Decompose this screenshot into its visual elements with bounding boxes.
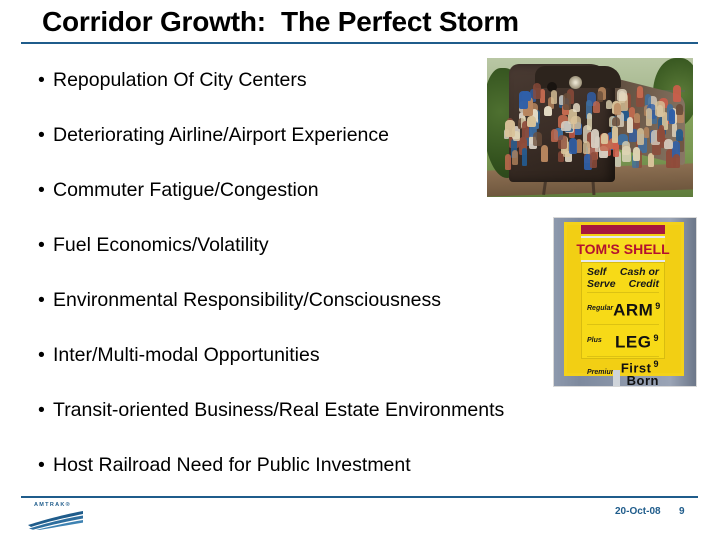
photo-passenger xyxy=(614,103,621,114)
footer-page-number: 9 xyxy=(679,506,685,517)
photo-passenger xyxy=(591,129,599,148)
sign-board-header: Self Serve Cash or Credit xyxy=(587,266,659,292)
photo-passenger xyxy=(533,132,542,146)
photo-passenger xyxy=(541,145,548,162)
photo-passenger xyxy=(533,83,541,99)
photo-passenger xyxy=(522,148,528,166)
photo-passenger xyxy=(558,135,567,149)
photo-passenger xyxy=(563,93,571,110)
photo-passenger xyxy=(576,139,581,153)
bullet-text: Host Railroad Need for Public Investment xyxy=(53,454,411,476)
footer-divider xyxy=(21,496,698,498)
bullet-text: Environmental Responsibility/Consciousne… xyxy=(53,289,441,311)
sign-support-pole xyxy=(613,370,620,386)
bullet-marker-icon: • xyxy=(38,53,45,108)
photo-passenger xyxy=(561,121,571,131)
photo-passenger xyxy=(633,147,640,161)
photo-passenger xyxy=(593,101,601,113)
list-item: • Transit-oriented Business/Real Estate … xyxy=(38,383,638,438)
photo-passenger xyxy=(612,126,618,143)
sign-price-value: LEG9 xyxy=(615,330,659,351)
sign-price-text: ARM xyxy=(613,301,653,320)
sign-price-text: LEG xyxy=(615,333,651,352)
amtrak-wordmark: AMTRAK® xyxy=(34,502,71,508)
photo-passenger xyxy=(659,125,665,138)
crowded-train-photo xyxy=(486,57,694,198)
photo-passenger xyxy=(597,91,603,102)
sign-grade-label: Plus xyxy=(587,337,602,344)
sign-price-value: ARM9 xyxy=(613,298,661,319)
photo-passenger xyxy=(601,133,609,144)
photo-passenger xyxy=(644,127,649,138)
photo-passenger xyxy=(612,117,621,126)
photo-passenger xyxy=(571,116,581,129)
list-item: • Inter/Multi-modal Opportunities xyxy=(38,328,638,383)
page-title: Corridor Growth: The Perfect Storm xyxy=(42,6,682,38)
bullet-marker-icon: • xyxy=(38,438,45,493)
photo-passenger xyxy=(573,103,580,112)
bullet-text: Transit-oriented Business/Real Estate En… xyxy=(53,399,504,421)
bullet-text: Inter/Multi-modal Opportunities xyxy=(53,344,320,366)
photo-passenger xyxy=(627,117,633,134)
sign-price-ninths: 9 xyxy=(655,301,661,311)
sign-price-value: First9 Born xyxy=(621,358,659,387)
sign-price-board: Self Serve Cash or Credit Regular ARM9 xyxy=(581,262,665,359)
photo-passenger xyxy=(646,108,653,126)
gas-station-price-sign-photo: TOM'S SHELL Self Serve Cash or Credit Re… xyxy=(553,217,697,387)
photo-passenger xyxy=(676,104,683,115)
sign-self-serve-line2: Serve xyxy=(587,278,616,290)
bullet-text: Commuter Fatigue/Congestion xyxy=(53,179,319,201)
photo-passenger xyxy=(544,106,552,116)
photo-passenger xyxy=(676,129,684,142)
photo-passenger xyxy=(673,85,681,101)
photo-passenger xyxy=(634,113,640,123)
photo-passenger xyxy=(617,89,627,101)
photo-passenger xyxy=(551,129,558,142)
photo-passenger xyxy=(569,138,577,154)
photo-passenger xyxy=(664,139,673,148)
sign-price-ninths: 9 xyxy=(653,333,659,343)
photo-passenger xyxy=(648,153,655,167)
photo-passenger xyxy=(655,101,665,117)
photo-passenger xyxy=(606,100,612,109)
photo-passenger xyxy=(669,109,676,124)
amtrak-logo: AMTRAK® xyxy=(27,502,85,530)
photo-passenger xyxy=(637,128,644,145)
sign-price-row: Premium First9 Born xyxy=(587,356,659,387)
list-item: • Environmental Responsibility/Conscious… xyxy=(38,273,638,328)
sign-top-stripe xyxy=(581,225,665,234)
bullet-marker-icon: • xyxy=(38,108,45,163)
photo-passenger xyxy=(622,141,630,156)
footer-date: 20-Oct-08 xyxy=(615,506,661,517)
bullet-marker-icon: • xyxy=(38,218,45,273)
bullet-marker-icon: • xyxy=(38,273,45,328)
sign-price-ninths: 9 xyxy=(653,359,659,369)
bullet-marker-icon: • xyxy=(38,163,45,218)
bullet-text: Deteriorating Airline/Airport Experience xyxy=(53,124,389,146)
photo-passenger xyxy=(673,154,681,169)
photo-passenger xyxy=(637,86,643,98)
photo-passenger xyxy=(590,152,597,168)
photo-passenger xyxy=(512,150,518,165)
sign-self-serve-line1: Self xyxy=(587,266,616,278)
list-item: • Fuel Economics/Volatility xyxy=(38,218,638,273)
sign-price-text-line2: Born xyxy=(627,373,659,387)
photo-passenger xyxy=(583,141,590,154)
photo-passenger xyxy=(551,90,557,104)
title-divider xyxy=(21,42,698,44)
sign-price-row: Plus LEG9 xyxy=(587,324,659,356)
bullet-marker-icon: • xyxy=(38,328,45,383)
sign-frame: TOM'S SHELL Self Serve Cash or Credit Re… xyxy=(564,222,684,376)
sign-cash-or-credit-label: Cash or Credit xyxy=(620,266,659,290)
slide-canvas: Corridor Growth: The Perfect Storm • Rep… xyxy=(0,0,718,538)
sign-cash-line2: Credit xyxy=(620,278,659,290)
photo-passenger xyxy=(522,91,531,101)
photo-passenger xyxy=(587,113,593,130)
sign-self-serve-label: Self Serve xyxy=(587,266,616,290)
bullet-marker-icon: • xyxy=(38,383,45,438)
photo-crowd-of-passengers xyxy=(503,82,683,162)
bullet-text: Repopulation Of City Centers xyxy=(53,69,307,91)
sign-cash-line1: Cash or xyxy=(620,266,659,278)
bullet-text: Fuel Economics/Volatility xyxy=(53,234,269,256)
sign-grade-label: Regular xyxy=(587,305,613,312)
sign-price-row: Regular ARM9 xyxy=(587,292,659,324)
list-item: • Host Railroad Need for Public Investme… xyxy=(38,438,638,493)
photo-passenger xyxy=(540,89,545,104)
sign-brand-bar: TOM'S SHELL xyxy=(581,236,665,262)
sign-brand-text: TOM'S SHELL xyxy=(576,241,669,257)
photo-passenger xyxy=(527,116,536,127)
amtrak-swoosh-icon xyxy=(27,510,85,530)
photo-passenger xyxy=(505,120,515,137)
